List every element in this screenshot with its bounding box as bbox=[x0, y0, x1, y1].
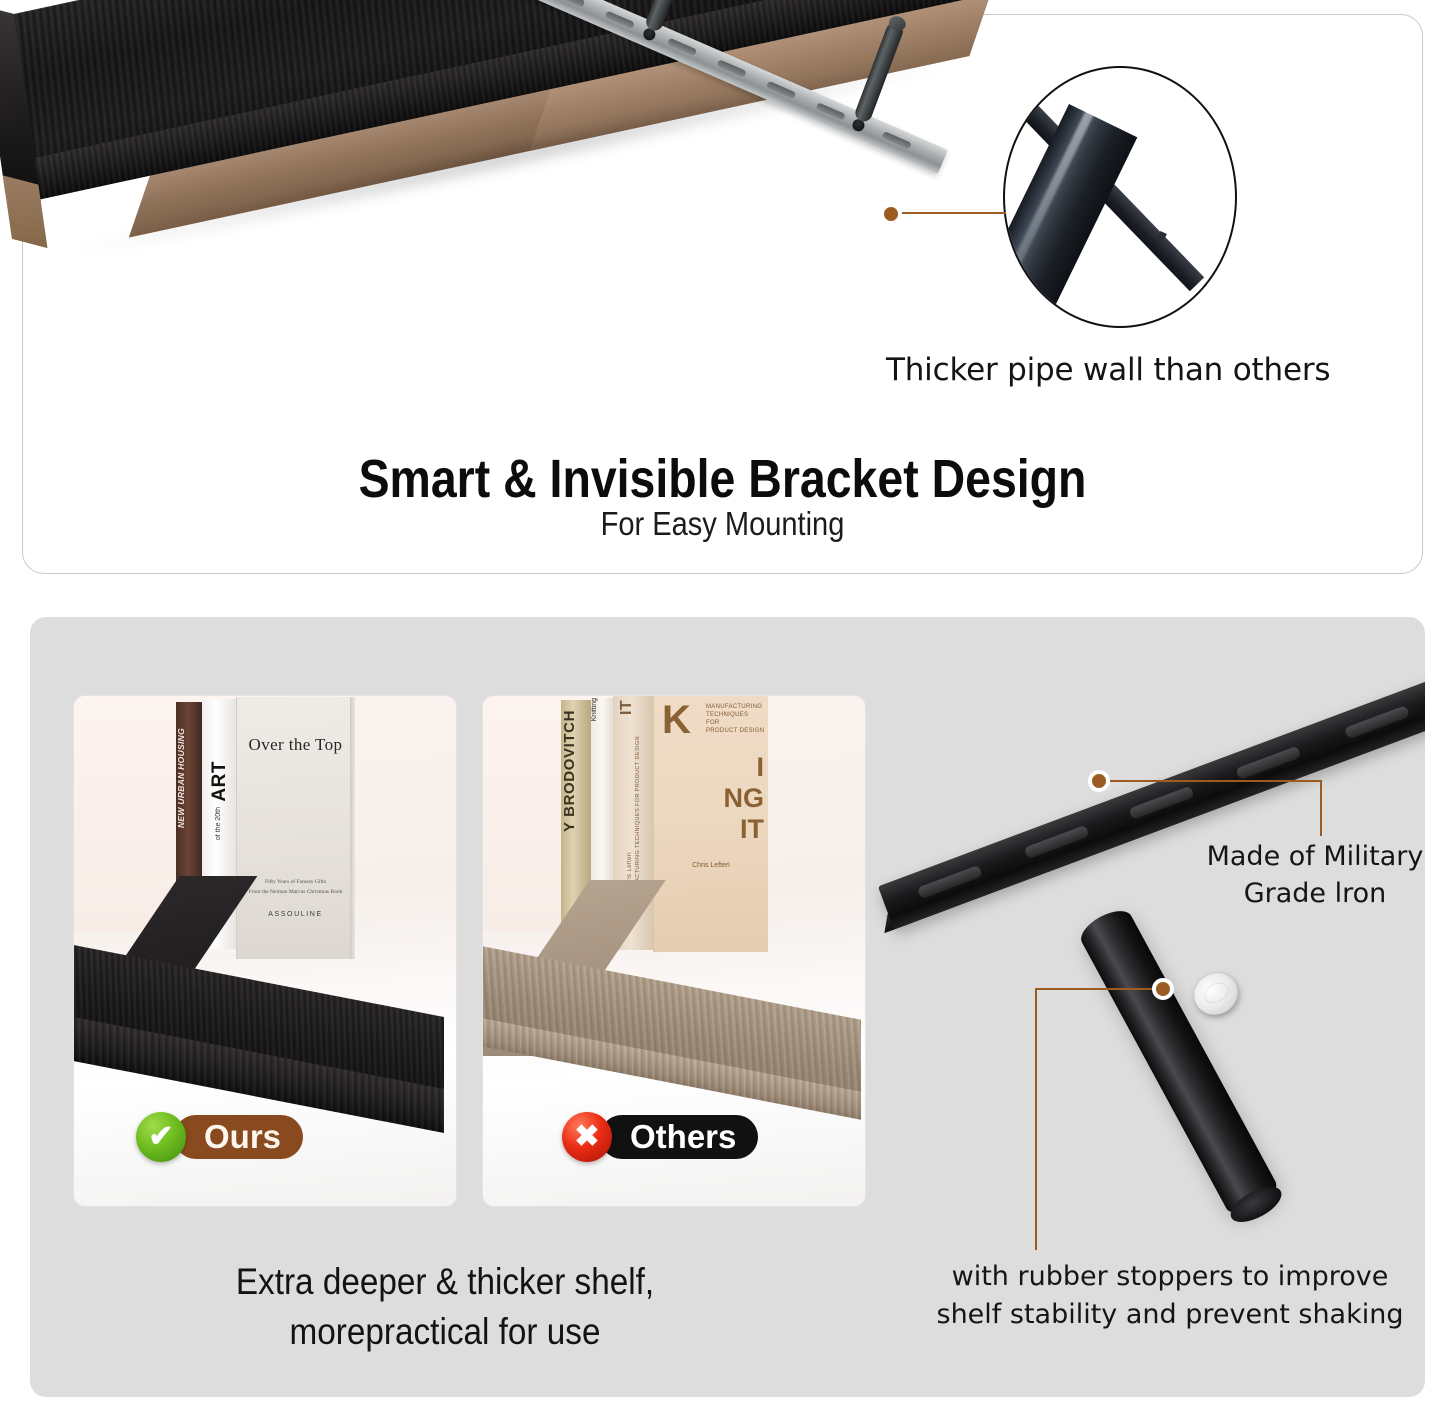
iron-bracket-illustration bbox=[840, 617, 1425, 1257]
plate-slot bbox=[1129, 786, 1195, 819]
book-over-the-top: Over the Top Fifty Years of Fantasy Gift… bbox=[236, 697, 354, 959]
shelf-depth-caption: Extra deeper & thicker shelf, morepracti… bbox=[112, 1257, 778, 1357]
book-spine-subtitle: of the 20th bbox=[215, 807, 222, 840]
rubber-callout-dot-icon bbox=[1152, 978, 1174, 1000]
thicker-pipe-caption: Thicker pipe wall than others bbox=[886, 352, 1366, 388]
others-badge: ✖ Others bbox=[562, 1112, 758, 1162]
book-spine-text: NEW URBAN HOUSING bbox=[176, 728, 186, 828]
book-cover-title: I NG IT bbox=[654, 752, 764, 845]
military-leader-vertical bbox=[1320, 780, 1322, 836]
book-spine-title: ART bbox=[209, 761, 231, 802]
ours-badge: ✔ Ours bbox=[136, 1112, 303, 1162]
book-cover-line2: From the Neiman Marcus Christmas Book bbox=[237, 889, 354, 895]
book-spine-title: IT bbox=[618, 700, 636, 715]
rubber-leader-vertical bbox=[1035, 988, 1037, 1250]
check-mark-icon: ✔ bbox=[136, 1112, 186, 1162]
rubber-stopper-caption: with rubber stoppers to improve shelf st… bbox=[905, 1258, 1435, 1334]
plate-slot bbox=[1024, 825, 1090, 858]
book-cover-author: Chris Lefteri bbox=[654, 862, 768, 869]
pipe-wall-magnifier bbox=[1003, 66, 1237, 328]
page-subtitle: For Easy Mounting bbox=[87, 505, 1359, 543]
book-cover-title: Over the Top bbox=[237, 735, 354, 755]
book-spine-subtitle: MANUFACTURING TECHNIQUES FOR PRODUCT DES… bbox=[635, 736, 641, 903]
book-edge bbox=[350, 697, 355, 959]
book-publisher: ASSOULINE bbox=[237, 911, 354, 918]
callout-dot-icon bbox=[880, 203, 902, 225]
others-label: Others bbox=[600, 1115, 758, 1159]
military-callout-dot-icon bbox=[1088, 770, 1110, 792]
plate-slot bbox=[917, 865, 983, 898]
plate-slot bbox=[1344, 705, 1410, 738]
book-cover-header: MANUFACTURING TECHNIQUES FOR PRODUCT DES… bbox=[706, 703, 764, 735]
military-iron-caption: Made of Military Grade lron bbox=[1180, 838, 1445, 912]
callout-leader-line bbox=[898, 212, 1006, 214]
top-illustration-stage: Thicker pipe wall than others Smart & In… bbox=[0, 0, 1445, 600]
book-cover-initial: K bbox=[662, 702, 691, 738]
rubber-leader-horizontal bbox=[1035, 988, 1163, 990]
pipe-open-end bbox=[1225, 1180, 1287, 1230]
plate-slot bbox=[1235, 746, 1301, 779]
book-making-it-cover: K MANUFACTURING TECHNIQUES FOR PRODUCT D… bbox=[653, 696, 768, 952]
cross-mark-icon: ✖ bbox=[562, 1112, 612, 1162]
book-spine-text: Y BRODOVITCH bbox=[561, 710, 578, 832]
ours-label: Ours bbox=[174, 1115, 303, 1159]
page-title: Smart & Invisible Bracket Design bbox=[101, 448, 1344, 510]
book-spine-text: Knitting bbox=[591, 698, 598, 721]
bracket-support-pipe bbox=[1075, 904, 1282, 1221]
military-leader-horizontal bbox=[1110, 780, 1322, 782]
